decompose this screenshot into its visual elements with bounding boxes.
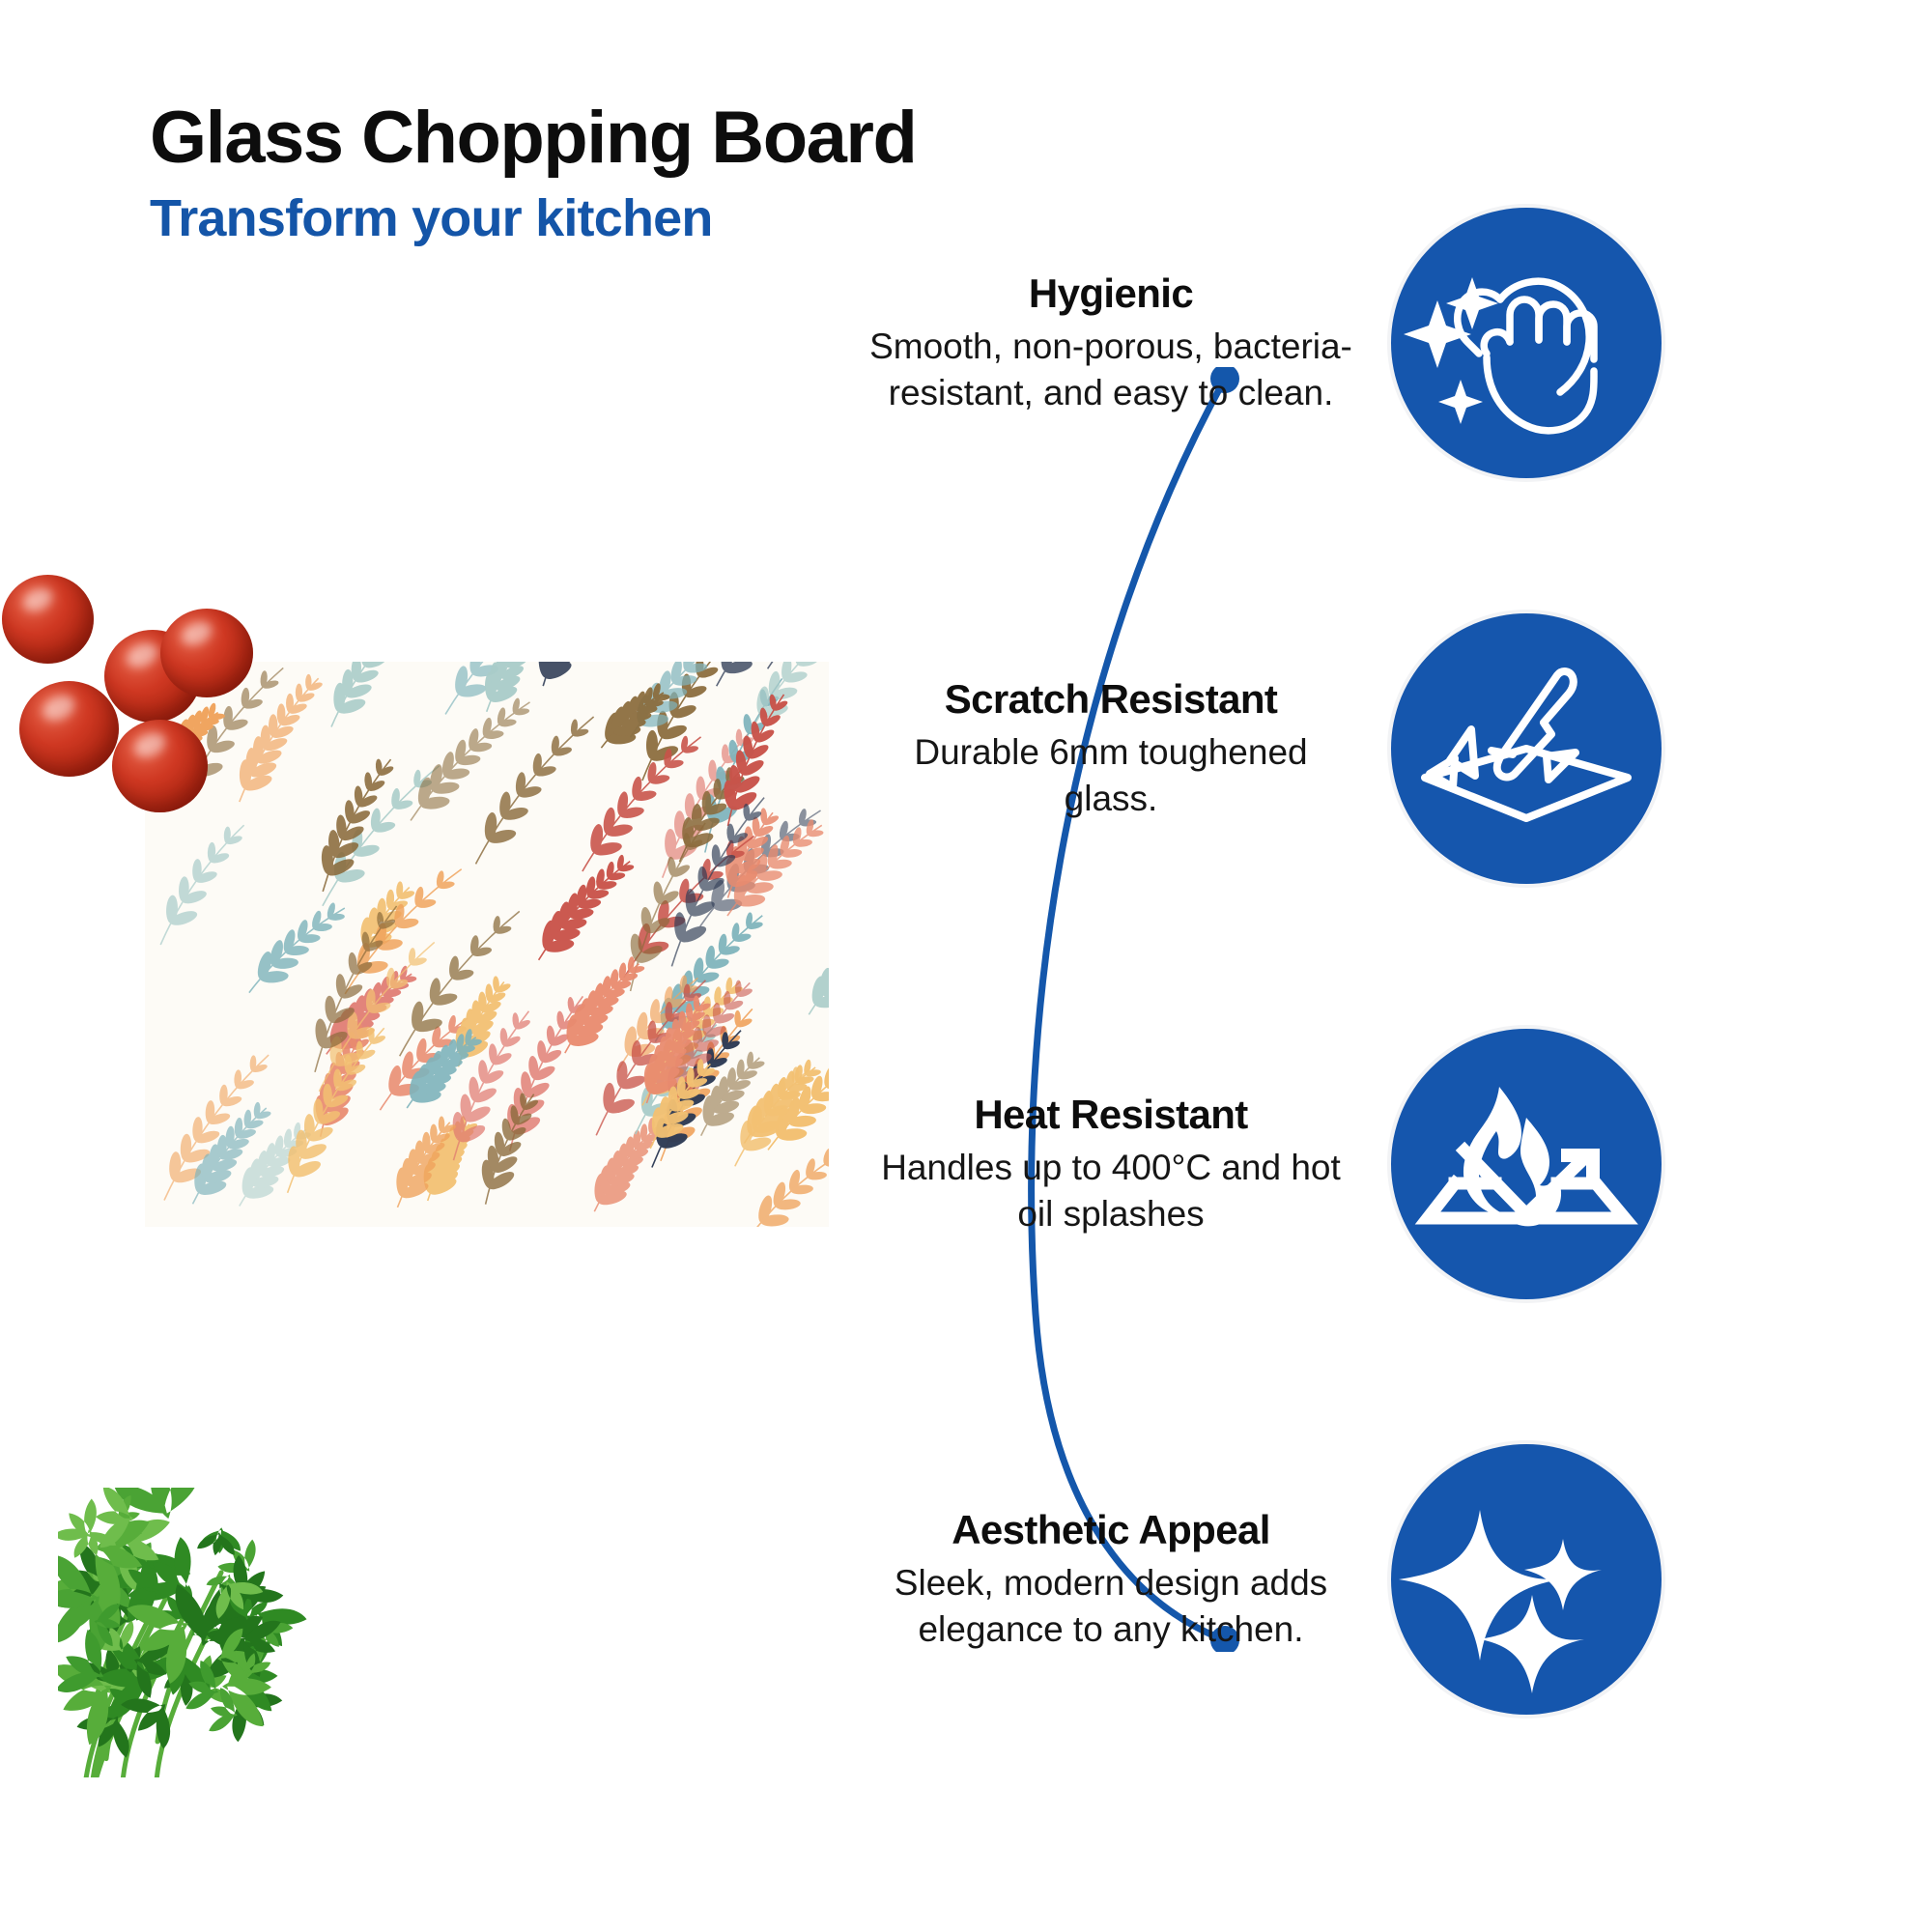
feature-scratch-desc: Durable 6mm toughened glass. xyxy=(869,729,1352,821)
product-image xyxy=(66,662,829,1227)
parsley-bunch xyxy=(58,1488,319,1777)
feature-hygienic[interactable]: Hygienic Smooth, non-porous, bacteria-re… xyxy=(869,208,1662,478)
feature-hygienic-desc: Smooth, non-porous, bacteria-resistant, … xyxy=(869,324,1352,415)
flame-deflect-icon xyxy=(1391,1029,1662,1299)
feature-heat-text: Heat Resistant Handles up to 400°C and h… xyxy=(869,1092,1391,1236)
feature-aesthetic-appeal[interactable]: Aesthetic Appeal Sleek, modern design ad… xyxy=(869,1444,1662,1715)
knife-on-surface-icon xyxy=(1391,613,1662,884)
chopping-board xyxy=(145,662,829,1227)
feature-hygienic-text: Hygienic Smooth, non-porous, bacteria-re… xyxy=(869,270,1391,415)
hand-wiping-sparkle-icon xyxy=(1391,208,1662,478)
infographic-canvas: Glass Chopping Board Transform your kitc… xyxy=(0,0,1932,1932)
cherry-tomato xyxy=(2,575,94,664)
feature-scratch-text: Scratch Resistant Durable 6mm toughened … xyxy=(869,676,1391,821)
feature-aesthetic-title: Aesthetic Appeal xyxy=(869,1507,1352,1552)
feature-aesthetic-desc: Sleek, modern design adds elegance to an… xyxy=(869,1560,1352,1652)
feature-heat-resistant[interactable]: Heat Resistant Handles up to 400°C and h… xyxy=(869,1029,1662,1299)
feature-heat-desc: Handles up to 400°C and hot oil splashes xyxy=(869,1145,1352,1236)
feature-heat-title: Heat Resistant xyxy=(869,1092,1352,1137)
page-title: Glass Chopping Board xyxy=(150,101,1212,175)
sparkles-icon xyxy=(1391,1444,1662,1715)
leaf-pattern xyxy=(145,662,829,1227)
feature-scratch-title: Scratch Resistant xyxy=(869,676,1352,722)
cherry-tomato xyxy=(160,609,253,697)
feature-hygienic-title: Hygienic xyxy=(869,270,1352,316)
feature-aesthetic-text: Aesthetic Appeal Sleek, modern design ad… xyxy=(869,1507,1391,1652)
feature-scratch-resistant[interactable]: Scratch Resistant Durable 6mm toughened … xyxy=(869,613,1662,884)
cherry-tomato xyxy=(112,720,208,812)
cherry-tomato xyxy=(19,681,119,777)
